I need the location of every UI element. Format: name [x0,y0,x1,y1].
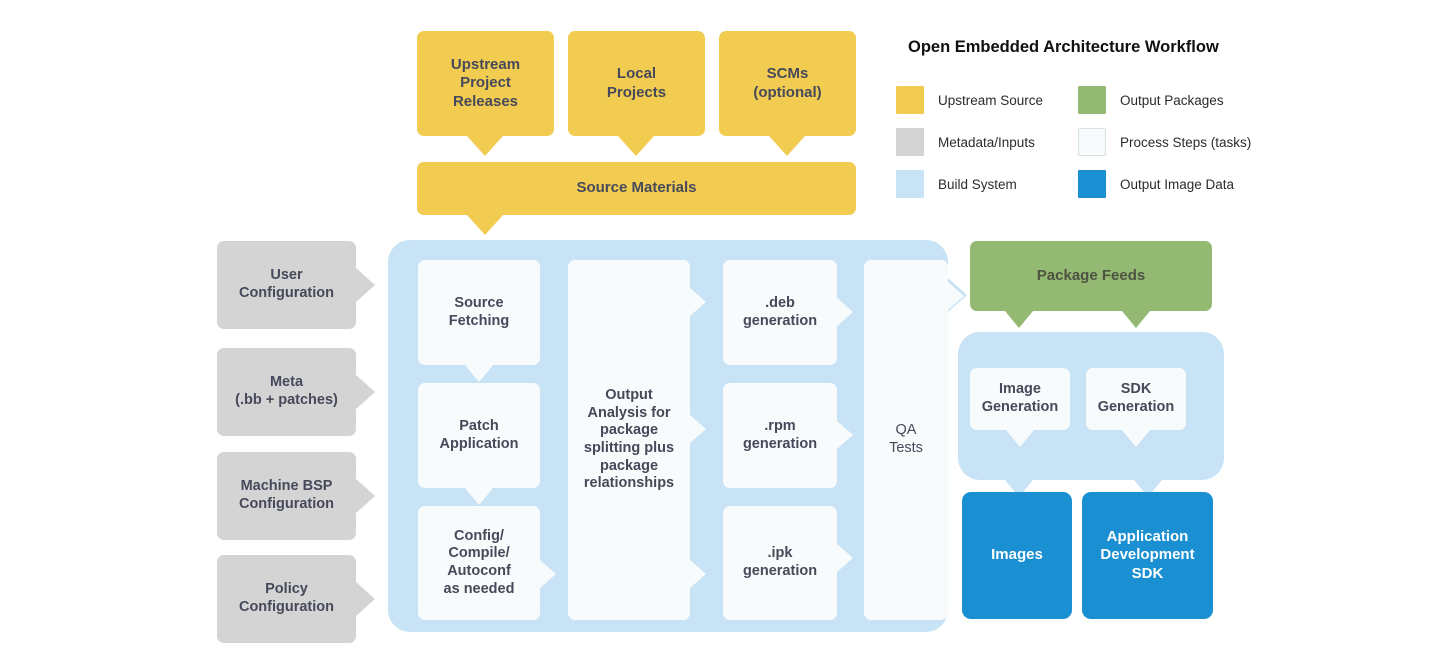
node-label: SCMs (optional) [719,65,856,102]
node-label: Policy Configuration [217,581,356,616]
node-source-materials[interactable]: Source Materials [417,162,856,215]
legend-label: Upstream Source [938,93,1043,108]
diagram-canvas: Open Embedded Architecture Workflow Upst… [0,0,1440,669]
process-steps-swatch [1078,128,1106,156]
output-image-data-swatch [1078,170,1106,198]
node-label: QA Tests [864,422,948,457]
legend-title: Open Embedded Architecture Workflow [908,38,1219,57]
arrow-source-materials-to-build-system [467,215,503,235]
arrow-scms-to-source-materials [769,136,805,156]
node-qa-tests[interactable]: QA Tests [864,260,948,620]
node-image-generation[interactable]: Image Generation [970,368,1070,430]
metadata-inputs-swatch [896,128,924,156]
node-label: Meta (.bb + patches) [217,374,356,409]
legend-item-output-image-data: Output Image Data [1078,170,1234,198]
node-images[interactable]: Images [962,492,1072,619]
node-local-projects[interactable]: Local Projects [568,31,705,136]
node-patch-application[interactable]: Patch Application [418,383,540,488]
arrow-image-generation-out [1006,430,1034,447]
arrow-source-fetching-to-patch-application [465,365,493,382]
arrow-machine-bsp-to-build [356,479,375,513]
legend-label: Output Image Data [1120,177,1234,192]
legend-label: Output Packages [1120,93,1224,108]
node-label: Patch Application [418,418,540,453]
legend-item-upstream-source: Upstream Source [896,86,1043,114]
node-label: Upstream Project Releases [417,56,554,111]
node-rpm-generation[interactable]: .rpm generation [723,383,837,488]
arrow-upstream-to-source-materials [467,136,503,156]
arrow-config-compile-to-output-analysis [540,560,556,588]
legend-label: Build System [938,177,1017,192]
legend-item-metadata-inputs: Metadata/Inputs [896,128,1035,156]
arrow-deb-to-qa-tests [837,298,853,326]
node-source-fetching[interactable]: Source Fetching [418,260,540,365]
arrow-output-analysis-to-ipk [690,560,706,588]
node-meta[interactable]: Meta (.bb + patches) [217,348,356,436]
legend-item-process-steps: Process Steps (tasks) [1078,128,1251,156]
node-label: .rpm generation [723,418,837,453]
arrow-package-feeds-to-image-generation [1005,311,1033,328]
node-label: Application Development SDK [1082,528,1213,583]
node-label: Images [962,546,1072,564]
node-label: SDK Generation [1086,381,1186,416]
output-packages-swatch [1078,86,1106,114]
node-machine-bsp-configuration[interactable]: Machine BSP Configuration [217,452,356,540]
node-label: Output Analysis for package splitting pl… [568,387,690,493]
legend-item-build-system: Build System [896,170,1017,198]
arrow-policy-configuration-to-build [356,582,375,616]
node-ipk-generation[interactable]: .ipk generation [723,506,837,620]
node-label: Source Fetching [418,295,540,330]
node-upstream-project-releases[interactable]: Upstream Project Releases [417,31,554,136]
node-label: .ipk generation [723,545,837,580]
arrow-local-projects-to-source-materials [618,136,654,156]
node-sdk-generation[interactable]: SDK Generation [1086,368,1186,430]
node-label: Source Materials [417,179,856,197]
node-scms[interactable]: SCMs (optional) [719,31,856,136]
node-label: .deb generation [723,295,837,330]
arrow-sdk-generation-out [1122,430,1150,447]
node-label: Image Generation [970,381,1070,416]
arrow-package-feeds-to-sdk-generation [1122,311,1150,328]
arrow-output-analysis-to-rpm [690,415,706,443]
node-output-analysis[interactable]: Output Analysis for package splitting pl… [568,260,690,620]
arrow-patch-application-to-config-compile [465,488,493,505]
node-config-compile-autoconf[interactable]: Config/ Compile/ Autoconf as needed [418,506,540,620]
node-label: Machine BSP Configuration [217,478,356,513]
arrow-qa-tests-to-package-feeds [948,282,964,310]
legend-item-output-packages: Output Packages [1078,86,1224,114]
arrow-rpm-to-qa-tests [837,421,853,449]
arrow-user-configuration-to-build [356,268,375,302]
build-system-swatch [896,170,924,198]
legend-label: Process Steps (tasks) [1120,135,1251,150]
node-application-development-sdk[interactable]: Application Development SDK [1082,492,1213,619]
upstream-source-swatch [896,86,924,114]
arrow-ipk-to-qa-tests [837,544,853,572]
node-label: Local Projects [568,65,705,102]
node-label: User Configuration [217,267,356,302]
arrow-meta-to-build [356,375,375,409]
node-label: Config/ Compile/ Autoconf as needed [418,528,540,599]
node-label: Package Feeds [970,267,1212,285]
arrow-output-analysis-to-deb [690,288,706,316]
node-deb-generation[interactable]: .deb generation [723,260,837,365]
node-package-feeds[interactable]: Package Feeds [970,241,1212,311]
node-user-configuration[interactable]: User Configuration [217,241,356,329]
node-policy-configuration[interactable]: Policy Configuration [217,555,356,643]
legend-label: Metadata/Inputs [938,135,1035,150]
